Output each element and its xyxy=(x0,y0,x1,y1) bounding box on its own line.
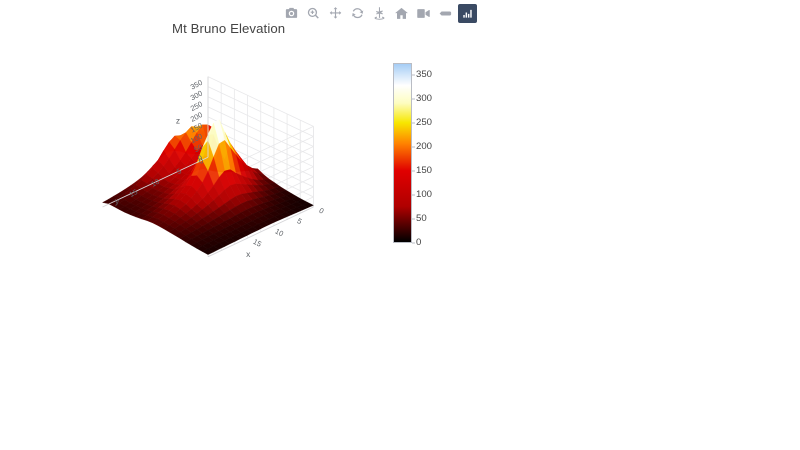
colorbar-tick-label: 250 xyxy=(416,118,432,128)
colorbar-tick-label: 350 xyxy=(416,70,432,80)
colorbar-tickmark xyxy=(412,243,415,244)
x-axis-title: x xyxy=(246,249,251,259)
x-axis-tick-label: 0 xyxy=(318,206,326,216)
colorbar-tickmark xyxy=(412,99,415,100)
colorbar-tick-label: 150 xyxy=(416,166,432,176)
colorbar-tickmark xyxy=(412,75,415,76)
colorbar-gradient xyxy=(393,63,412,243)
colorbar-tickmark xyxy=(412,219,415,220)
page-title: Mt Bruno Elevation xyxy=(172,21,285,36)
surface-plot-svg[interactable]: 050100150200250300350z051015y051015x xyxy=(90,55,330,265)
hover-closest-icon[interactable] xyxy=(436,4,455,23)
colorbar-tickmark xyxy=(412,195,415,196)
colorbar: 350300250200150100500 xyxy=(393,63,455,248)
colorbar-tick-label: 50 xyxy=(416,214,427,224)
z-axis-tick-label: 200 xyxy=(189,110,204,124)
colorbar-tickmark xyxy=(412,171,415,172)
colorbar-tick-label: 200 xyxy=(416,142,432,152)
turntable-rotation-icon[interactable] xyxy=(370,4,389,23)
colorbar-tick-label: 100 xyxy=(416,190,432,200)
z-axis-tick-label: 250 xyxy=(189,99,204,113)
z-axis-tick-label: 300 xyxy=(189,89,204,103)
z-axis-tick-label: 350 xyxy=(189,78,204,92)
x-axis-tick-label: 15 xyxy=(252,237,263,249)
colorbar-tick-label: 300 xyxy=(416,94,432,104)
colorbar-tickmark xyxy=(412,123,415,124)
surface-plot-scene[interactable]: 050100150200250300350z051015y051015x xyxy=(90,55,330,265)
x-axis-tick-label: 10 xyxy=(274,227,285,239)
zoom-icon[interactable] xyxy=(304,4,323,23)
colorbar-ticklabels: 350300250200150100500 xyxy=(414,63,454,243)
x-axis-tick-label: 5 xyxy=(296,216,304,226)
download-plot-icon[interactable] xyxy=(282,4,301,23)
colorbar-tickmark xyxy=(412,147,415,148)
reset-camera-home-icon[interactable] xyxy=(392,4,411,23)
reset-camera-last-save-icon[interactable] xyxy=(414,4,433,23)
plotly-logo-icon[interactable] xyxy=(458,4,477,23)
pan-icon[interactable] xyxy=(326,4,345,23)
z-axis-title: z xyxy=(176,115,180,125)
plotly-modebar[interactable] xyxy=(282,3,477,23)
orbital-rotation-icon[interactable] xyxy=(348,4,367,23)
colorbar-tick-label: 0 xyxy=(416,238,421,248)
